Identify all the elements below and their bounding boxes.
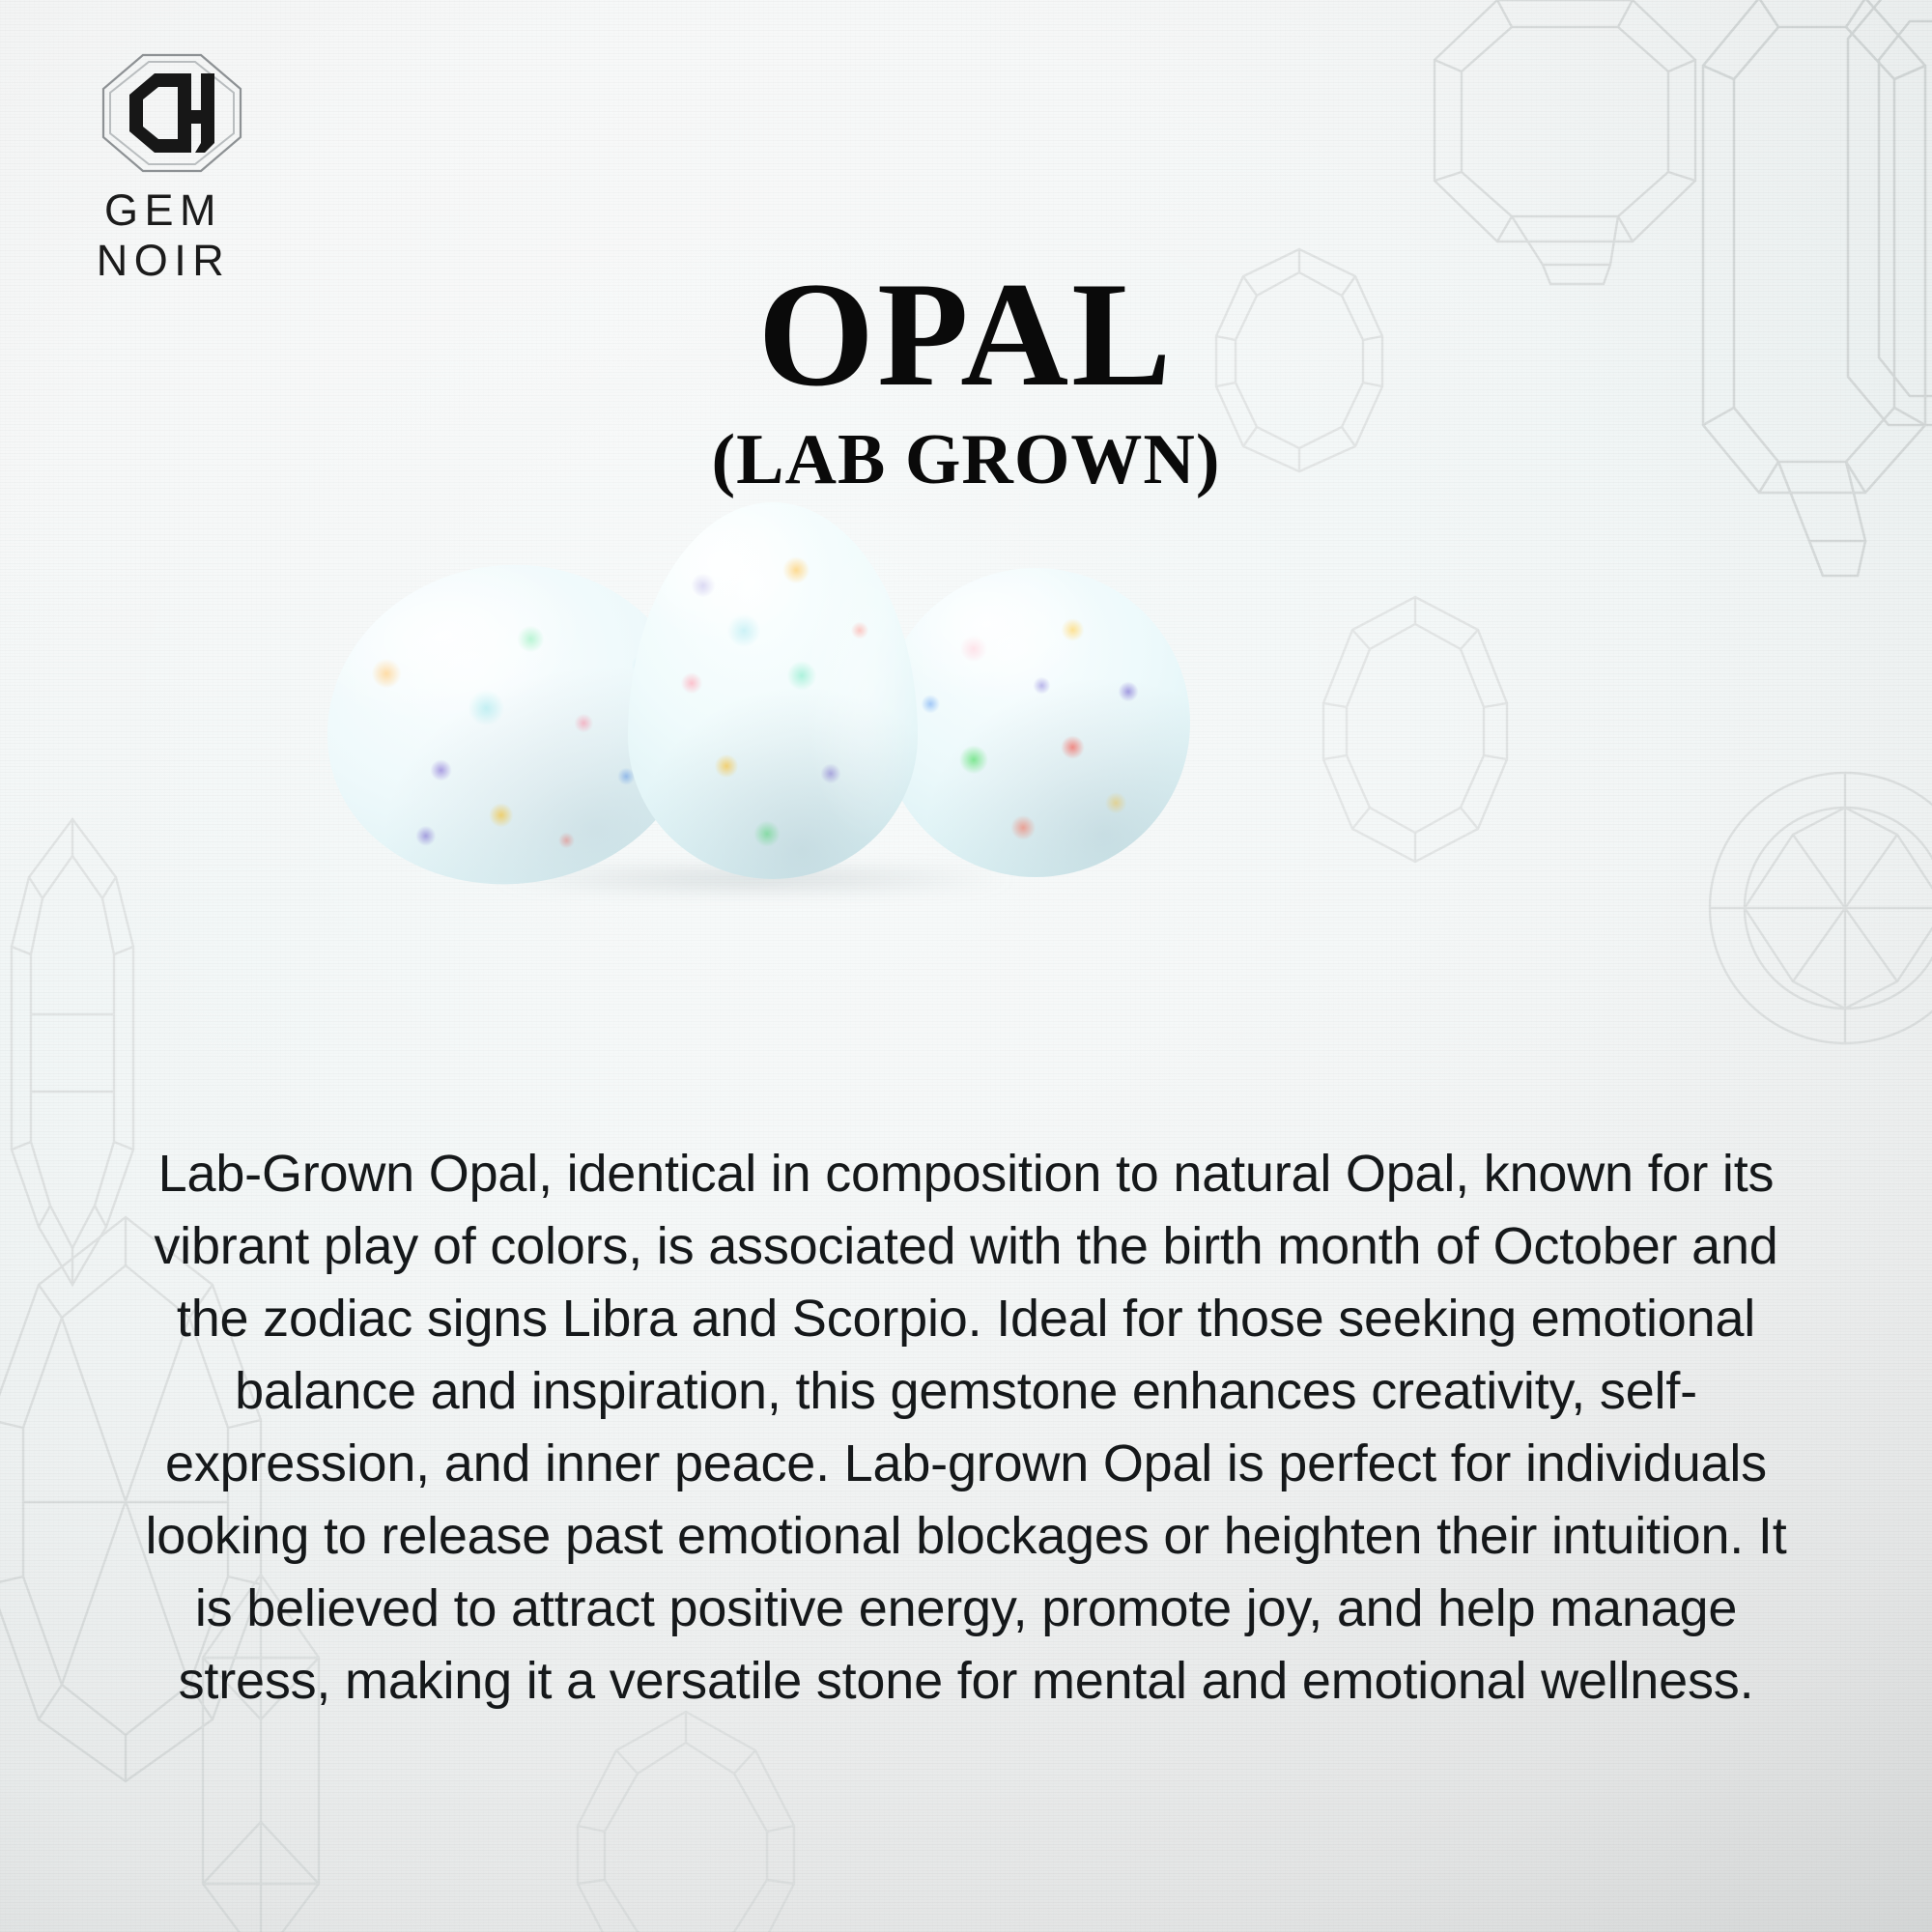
- description-text: Lab-Grown Opal, identical in composition…: [145, 1138, 1787, 1718]
- poster-canvas: GEM NOIR OPAL (LAB GROWN) Lab-Grown Opal…: [0, 0, 1932, 1932]
- headline-block: OPAL (LAB GROWN): [0, 263, 1932, 496]
- page-subtitle: (LAB GROWN): [0, 424, 1932, 496]
- brand-logo: GEM NOIR: [39, 50, 328, 286]
- opal-cabochon-round-right: [881, 568, 1190, 877]
- opal-cabochon-pear-center: [628, 502, 918, 879]
- opal-gem-cluster: [0, 502, 1932, 908]
- emerald-cut-gem-outline: [1406, 0, 1724, 301]
- gem-noir-monogram-icon: [99, 50, 245, 176]
- opal-sheen: [881, 568, 1190, 877]
- opal-sheen: [628, 502, 918, 879]
- page-title: OPAL: [0, 263, 1932, 407]
- description-block: Lab-Grown Opal, identical in composition…: [145, 1138, 1787, 1718]
- octagon-gem-outline: [541, 1700, 831, 1932]
